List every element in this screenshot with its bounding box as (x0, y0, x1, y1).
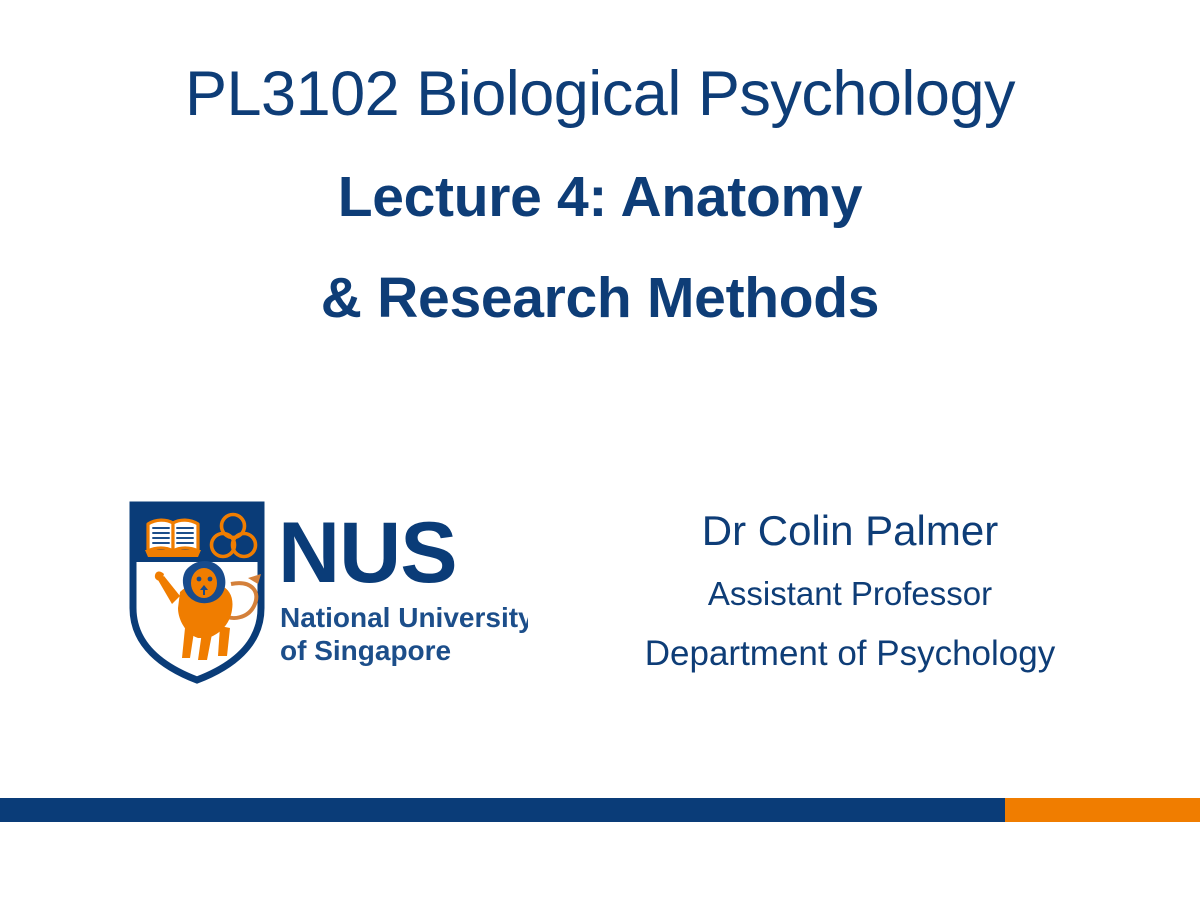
presenter-department: Department of Psychology (560, 635, 1140, 674)
title-slide: PL3102 Biological Psychology Lecture 4: … (0, 0, 1200, 898)
nus-logo: NUS National University of Singapore (128, 500, 528, 686)
lecture-title-line-1: Lecture 4: Anatomy (0, 168, 1200, 228)
nus-logo-svg: NUS National University of Singapore (128, 500, 528, 686)
nus-subtitle-line-2: of Singapore (280, 635, 451, 666)
open-book-icon (145, 520, 201, 557)
nus-subtitle-line-1: National University (280, 602, 528, 633)
presenter-name: Dr Colin Palmer (560, 508, 1140, 554)
title-block: PL3102 Biological Psychology Lecture 4: … (0, 62, 1200, 329)
nus-wordmark: NUS (278, 505, 457, 601)
nus-crest-icon (133, 505, 261, 680)
course-title: PL3102 Biological Psychology (0, 62, 1200, 128)
footer-rule-orange-segment (1005, 798, 1200, 822)
footer-rule-navy-segment (0, 798, 1005, 822)
presenter-block: Dr Colin Palmer Assistant Professor Depa… (560, 508, 1140, 674)
presenter-role: Assistant Professor (560, 576, 1140, 612)
footer-rule (0, 798, 1200, 822)
lecture-title-line-2: & Research Methods (0, 269, 1200, 329)
